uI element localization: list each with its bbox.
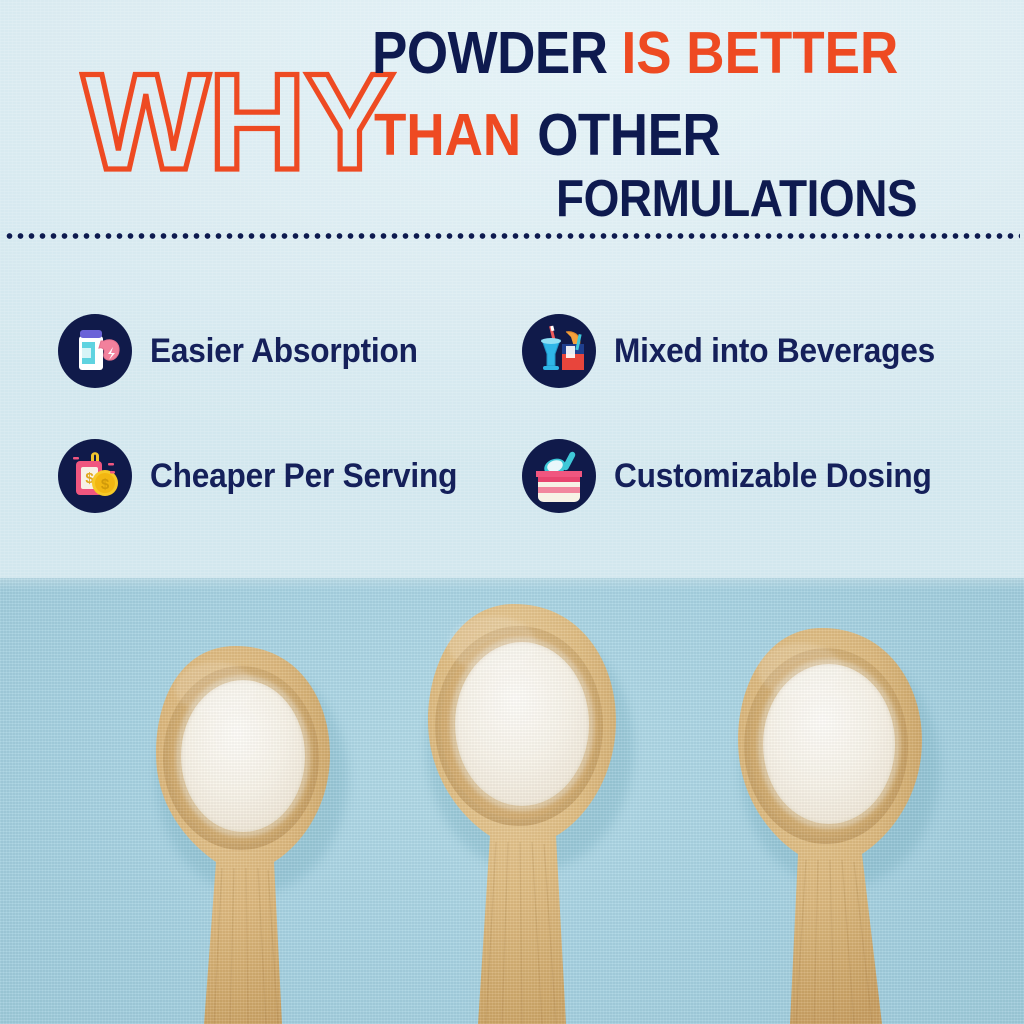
benefit-label: Mixed into Beverages bbox=[614, 331, 935, 371]
benefit-item-mixed-into-beverages: Mixed into Beverages bbox=[522, 314, 929, 388]
benefit-item-cheaper-per-serving: $ $ Cheaper Per Serving bbox=[58, 439, 451, 513]
headline-word-other: OTHER bbox=[537, 106, 720, 165]
price-tag-coin-icon: $ $ bbox=[58, 439, 132, 513]
headline-why-outline: WHY bbox=[82, 66, 394, 181]
dotted-divider bbox=[4, 232, 1020, 240]
benefit-item-customizable-dosing: Customizable Dosing bbox=[522, 439, 925, 513]
headline-word-formulations: FORMULATIONS bbox=[556, 172, 917, 224]
spoons-photo bbox=[0, 578, 1024, 1024]
infographic-page: WHY POWDERIS BETTER THANOTHER FORMULATIO… bbox=[0, 0, 1024, 1024]
benefit-label: Easier Absorption bbox=[150, 331, 418, 371]
headline-line-1: POWDERIS BETTER bbox=[372, 30, 972, 92]
tub-scoop-icon bbox=[522, 439, 596, 513]
headline-line-3: FORMULATIONS bbox=[372, 178, 972, 234]
headline-word-powder: POWDER bbox=[372, 24, 608, 83]
supplement-bottle-stomach-icon bbox=[58, 314, 132, 388]
headline-right-block: POWDERIS BETTER THANOTHER FORMULATIONS bbox=[372, 30, 972, 234]
benefits-grid: Easier Absorption bbox=[0, 300, 1024, 550]
headline-word-is-better: IS BETTER bbox=[622, 24, 899, 83]
benefit-item-easier-absorption: Easier Absorption bbox=[58, 314, 412, 388]
svg-text:$: $ bbox=[101, 476, 110, 493]
cocktail-drinks-icon bbox=[522, 314, 596, 388]
benefit-label: Cheaper Per Serving bbox=[150, 456, 457, 496]
headline: WHY POWDERIS BETTER THANOTHER FORMULATIO… bbox=[0, 30, 1024, 225]
spoons-illustration bbox=[0, 578, 1024, 1024]
headline-word-than: THAN bbox=[374, 106, 521, 165]
headline-line-2: THANOTHER bbox=[372, 112, 972, 172]
benefit-label: Customizable Dosing bbox=[614, 456, 932, 496]
